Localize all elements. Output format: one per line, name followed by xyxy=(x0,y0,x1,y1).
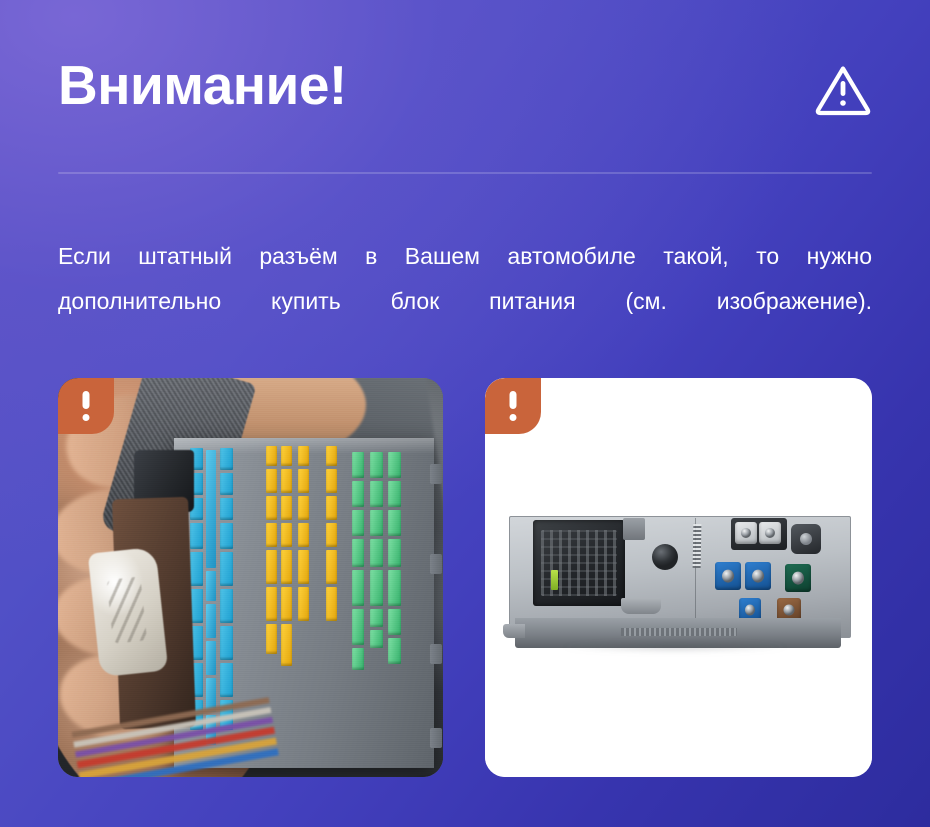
power-supply-photo-card[interactable] xyxy=(485,378,872,777)
power-supply-photo xyxy=(485,378,872,777)
power-supply-unit xyxy=(509,506,849,656)
body-paragraph: Если штатный разъём в Вашем автомобиле т… xyxy=(58,234,872,369)
header-divider xyxy=(58,172,872,174)
warning-triangle-icon xyxy=(814,61,872,119)
exclamation-icon xyxy=(510,391,517,409)
fakra-connector-white xyxy=(735,522,757,544)
green-keyed-pin xyxy=(551,570,558,590)
photo-grain xyxy=(58,378,443,777)
unit-shadow xyxy=(515,640,835,654)
round-knob xyxy=(652,544,678,570)
fakra-connector-green xyxy=(785,564,811,592)
screw-pad xyxy=(791,524,821,554)
main-black-connector xyxy=(533,520,625,606)
exclamation-dot xyxy=(83,414,90,421)
warning-banner: Внимание! Если штатный разъём в Вашем ав… xyxy=(0,0,930,827)
exclamation-badge xyxy=(58,378,114,434)
header: Внимание! xyxy=(58,55,872,135)
exclamation-dot xyxy=(510,414,517,421)
stock-connector-photo-card[interactable] xyxy=(58,378,443,777)
retaining-clip xyxy=(621,598,661,614)
fakra-connector-blue xyxy=(715,562,741,590)
fakra-connector-white xyxy=(759,522,781,544)
exclamation-badge xyxy=(485,378,541,434)
fakra-connector-blue xyxy=(745,562,771,590)
image-card-group xyxy=(58,378,872,777)
page-title: Внимание! xyxy=(58,53,347,117)
barcode-label xyxy=(693,524,702,568)
unit-mounting-tab xyxy=(503,624,525,638)
stock-connector-photo xyxy=(58,378,443,777)
metal-bracket xyxy=(623,518,645,540)
exclamation-icon xyxy=(83,391,90,409)
unit-base-label xyxy=(621,628,737,636)
